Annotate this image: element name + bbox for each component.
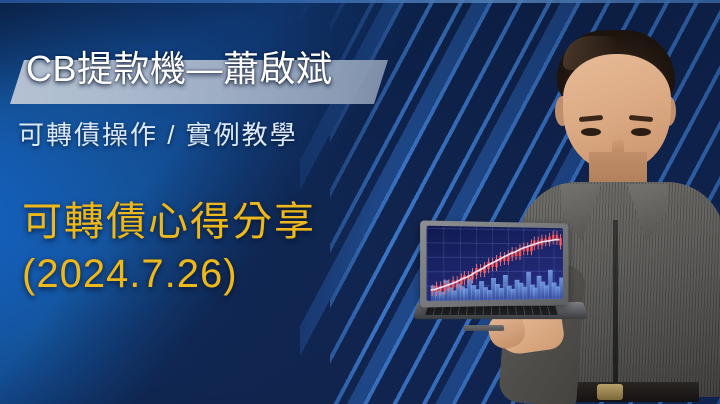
chart-candle-wick xyxy=(557,231,558,244)
chart-candle-wick xyxy=(523,242,524,256)
chart-candle-wick xyxy=(508,250,509,266)
headline-line-2: (2024.7.26) xyxy=(22,248,462,300)
laptop-trackpad xyxy=(464,325,505,331)
page-title: CB提款機—蕭啟斌 xyxy=(26,47,446,91)
presenter-shirt-placket xyxy=(613,220,618,390)
thumbnail-canvas: CB提款機—蕭啟斌 可轉債操作 / 實例教學 可轉債心得分享 (2024.7.2… xyxy=(0,0,720,404)
presenter-brow-left xyxy=(579,115,603,122)
chart-candle-wick xyxy=(476,264,477,279)
laptop-keyboard xyxy=(425,306,558,315)
chart-candle-wick xyxy=(553,231,554,244)
chart-candle-wick xyxy=(496,255,497,271)
chart-candle-wick xyxy=(534,237,535,250)
headline-block: 可轉債心得分享 (2024.7.26) xyxy=(22,196,462,300)
presenter-eye-right xyxy=(631,128,651,136)
chart-candle-wick xyxy=(464,271,465,285)
chart-candle-wick xyxy=(504,252,505,265)
page-subtitle: 可轉債操作 / 實例教學 xyxy=(18,118,458,152)
chart-candle-wick xyxy=(492,258,493,271)
chart-candle-wick xyxy=(545,234,546,246)
chart-candle-wick xyxy=(484,262,485,277)
chart-candle-wick xyxy=(542,234,543,249)
chart-candle-wick xyxy=(515,247,516,260)
chart-candle-wick xyxy=(549,233,550,246)
chart-candle-wick xyxy=(480,264,481,276)
chart-candle-wick xyxy=(500,252,501,266)
chart-candle-wick xyxy=(560,234,561,249)
presenter-brow-right xyxy=(629,115,653,122)
chart-candle-wick xyxy=(531,239,532,254)
chart-candle-wick xyxy=(511,247,512,261)
headline-line-1: 可轉債心得分享 xyxy=(22,196,462,248)
presenter-eye-left xyxy=(581,128,601,136)
chart-candle-wick xyxy=(519,244,520,260)
presenter-photo xyxy=(505,14,720,404)
chart-candle-wick xyxy=(527,242,528,255)
presenter-belt-buckle xyxy=(597,384,623,400)
chart-candle-wick xyxy=(468,271,469,284)
chart-candle-wick xyxy=(472,268,473,283)
chart-candle-wick xyxy=(538,237,539,249)
chart-candle-wick xyxy=(488,258,489,273)
